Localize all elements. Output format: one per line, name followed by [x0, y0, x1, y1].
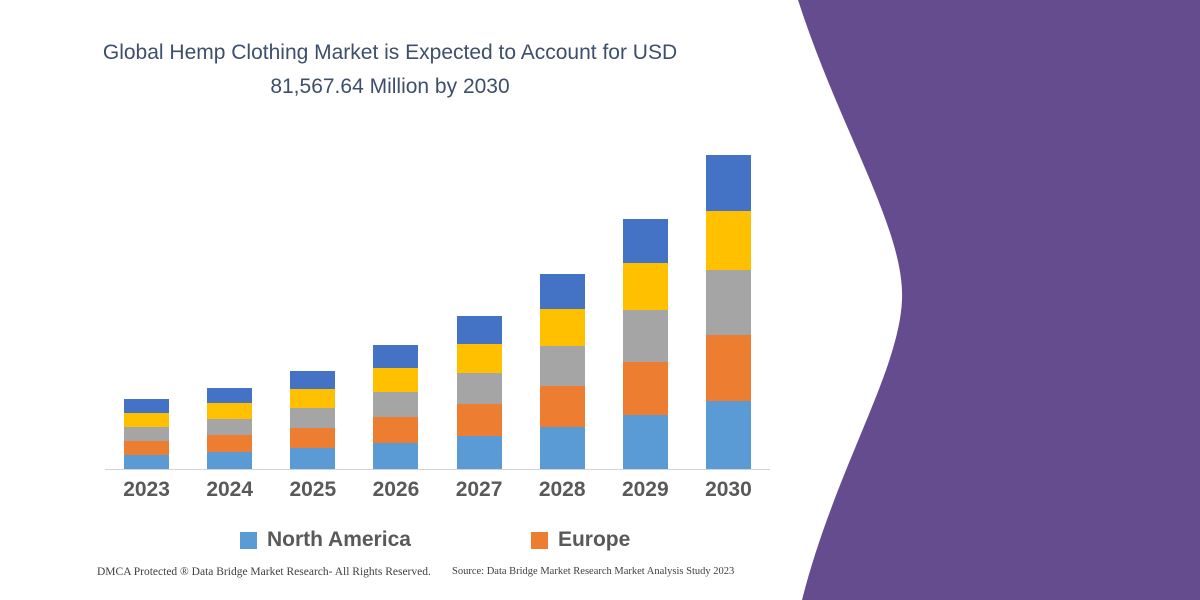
x-axis-label-2028: 2028 — [521, 478, 604, 502]
bar-segment-series-4[interactable] — [457, 344, 502, 373]
stacked-bar[interactable] — [623, 219, 668, 469]
footer: DMCA Protected ® Data Bridge Market Rese… — [0, 566, 800, 592]
bar-column-2026[interactable] — [354, 140, 437, 469]
bar-segment-europe[interactable] — [373, 417, 418, 443]
chart-legend: North America Europe — [240, 528, 660, 552]
x-axis-label-2023: 2023 — [105, 478, 188, 502]
x-axis-label-2029: 2029 — [604, 478, 687, 502]
bar-chart-plot-area — [105, 140, 770, 469]
bar-segment-north-america[interactable] — [457, 436, 502, 469]
bar-segment-north-america[interactable] — [623, 415, 668, 469]
bar-segment-north-america[interactable] — [290, 448, 335, 469]
bar-segment-europe[interactable] — [207, 435, 252, 452]
x-axis-label-2026: 2026 — [354, 478, 437, 502]
bar-segment-series-3[interactable] — [623, 310, 668, 362]
brand-panel-background — [780, 0, 1200, 600]
bar-column-2030[interactable] — [687, 140, 770, 469]
stacked-bar[interactable] — [540, 274, 585, 469]
bar-segment-series-4[interactable] — [373, 368, 418, 392]
chart-title: Global Hemp Clothing Market is Expected … — [60, 36, 720, 104]
bar-column-2025[interactable] — [271, 140, 354, 469]
bar-segment-series-4[interactable] — [623, 263, 668, 310]
bar-segment-series-5[interactable] — [623, 219, 668, 263]
bar-segment-series-5[interactable] — [124, 399, 169, 413]
bar-segment-europe[interactable] — [623, 362, 668, 415]
bar-segment-north-america[interactable] — [540, 427, 585, 469]
legend-swatch-icon-north-america — [240, 532, 257, 549]
bar-column-2024[interactable] — [188, 140, 271, 469]
bar-segment-series-5[interactable] — [290, 371, 335, 389]
legend-label-north-america: North America — [267, 528, 411, 552]
bar-segment-europe[interactable] — [124, 441, 169, 455]
x-axis-label-2027: 2027 — [438, 478, 521, 502]
bar-segment-series-4[interactable] — [124, 413, 169, 427]
bar-segment-europe[interactable] — [290, 428, 335, 448]
bar-segment-north-america[interactable] — [124, 455, 169, 469]
bar-segment-series-4[interactable] — [207, 403, 252, 419]
bar-segment-series-3[interactable] — [457, 373, 502, 404]
bar-segment-europe[interactable] — [457, 404, 502, 436]
legend-swatch-icon-europe — [531, 532, 548, 549]
x-axis-tick-labels: 20232024202520262027202820292030 — [105, 478, 770, 502]
bar-segment-series-3[interactable] — [124, 427, 169, 441]
x-axis-line — [105, 469, 770, 470]
bar-segment-north-america[interactable] — [373, 443, 418, 469]
bar-column-2029[interactable] — [604, 140, 687, 469]
infographic-root: Global Hemp Clothing Market is Expected … — [0, 0, 1200, 600]
footer-source-text: Source: Data Bridge Market Research Mark… — [452, 566, 734, 577]
bar-segment-series-4[interactable] — [540, 309, 585, 346]
chart-panel: Global Hemp Clothing Market is Expected … — [0, 0, 800, 600]
bar-segment-series-4[interactable] — [706, 211, 751, 270]
bar-segment-north-america[interactable] — [207, 452, 252, 469]
bar-segment-series-4[interactable] — [290, 389, 335, 408]
bar-segment-series-5[interactable] — [207, 388, 252, 403]
bar-segment-series-3[interactable] — [373, 392, 418, 417]
x-axis-label-2024: 2024 — [188, 478, 271, 502]
bar-segment-series-5[interactable] — [457, 316, 502, 344]
stacked-bar[interactable] — [290, 371, 335, 469]
stacked-bar[interactable] — [457, 316, 502, 469]
bar-segment-series-5[interactable] — [540, 274, 585, 309]
stacked-bar[interactable] — [706, 155, 751, 469]
bar-column-2023[interactable] — [105, 140, 188, 469]
brand-panel: Global Hemp Clothing Market, By Regions,… — [780, 0, 1200, 600]
bar-segment-series-5[interactable] — [373, 345, 418, 368]
bar-segment-series-3[interactable] — [706, 270, 751, 335]
x-axis-label-2025: 2025 — [271, 478, 354, 502]
legend-label-europe: Europe — [558, 528, 630, 552]
stacked-bar[interactable] — [373, 345, 418, 469]
bar-column-2028[interactable] — [521, 140, 604, 469]
bar-segment-europe[interactable] — [706, 335, 751, 401]
bar-segment-series-3[interactable] — [290, 408, 335, 428]
bar-segment-north-america[interactable] — [706, 401, 751, 469]
legend-item-europe[interactable]: Europe — [531, 528, 630, 552]
legend-item-north-america[interactable]: North America — [240, 528, 411, 552]
footer-copyright-text: DMCA Protected ® Data Bridge Market Rese… — [97, 566, 431, 578]
bar-column-2027[interactable] — [438, 140, 521, 469]
bar-segment-series-3[interactable] — [207, 419, 252, 435]
bar-segment-europe[interactable] — [540, 386, 585, 427]
bar-segment-series-5[interactable] — [706, 155, 751, 211]
stacked-bar[interactable] — [124, 399, 169, 469]
stacked-bar[interactable] — [207, 388, 252, 469]
x-axis-label-2030: 2030 — [687, 478, 770, 502]
bar-segment-series-3[interactable] — [540, 346, 585, 386]
